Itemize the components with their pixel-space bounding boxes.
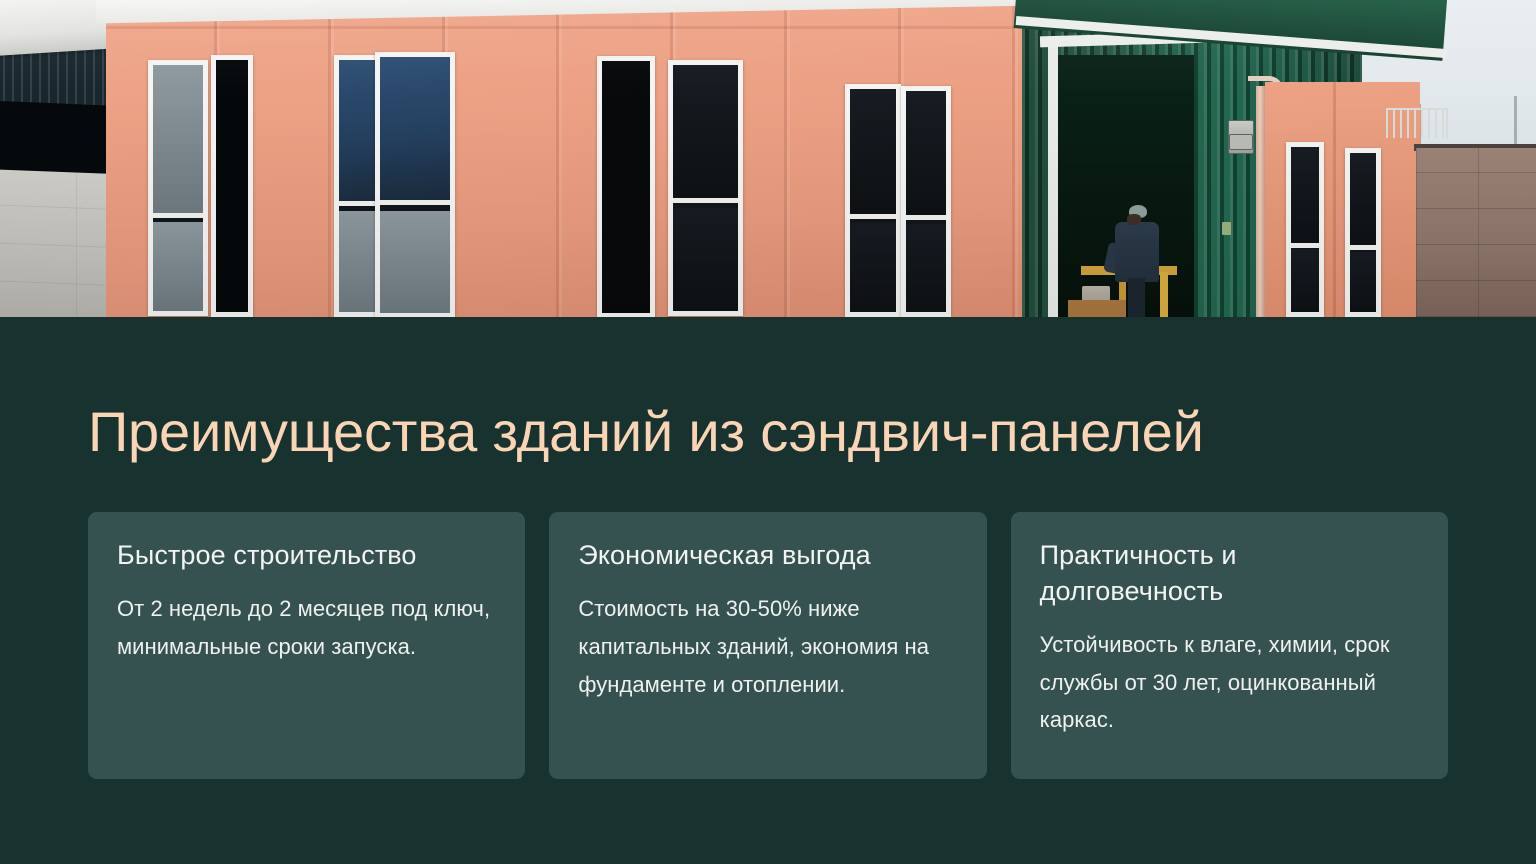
window-right-2	[1345, 148, 1381, 317]
window-mullion	[850, 214, 896, 219]
workbench-leg	[1160, 272, 1168, 317]
page-title: Преимущества зданий из сэндвич-панелей	[88, 402, 1458, 462]
benefit-cards: Быстрое строительство От 2 недель до 2 м…	[88, 512, 1448, 779]
worker-leg	[1128, 278, 1145, 317]
brick-wall	[1416, 148, 1536, 317]
wall-vent	[1222, 222, 1231, 235]
window-pane	[1350, 153, 1376, 245]
benefit-card-1-body: От 2 недель до 2 месяцев под ключ, миним…	[117, 590, 496, 666]
window-pane	[673, 65, 738, 198]
window-pane	[906, 224, 946, 312]
downspout-left	[1256, 86, 1265, 317]
benefit-card-1: Быстрое строительство От 2 недель до 2 м…	[88, 512, 525, 779]
window-mullion	[906, 215, 946, 220]
window-pane	[153, 222, 203, 311]
window-pane	[153, 65, 203, 213]
window-middle-2	[845, 84, 901, 317]
window-mullion	[673, 198, 738, 203]
door-opening-middle	[597, 56, 655, 317]
window-middle-1	[668, 60, 743, 316]
slide-root: Преимущества зданий из сэндвич-панелей Б…	[0, 0, 1536, 864]
benefit-card-1-title: Быстрое строительство	[117, 538, 496, 574]
window-pane	[1291, 147, 1319, 243]
benefit-card-3: Практичность и долговечность Устойчивост…	[1011, 512, 1448, 779]
window-middle-3	[901, 86, 951, 317]
window-left-1	[148, 60, 208, 316]
electrical-box-lower	[1229, 134, 1253, 150]
window-mullion	[1291, 243, 1319, 248]
worker-face	[1127, 214, 1141, 225]
window-mullion	[153, 213, 203, 218]
window-mullion	[1350, 245, 1376, 250]
window-pane	[673, 208, 738, 311]
window-pane	[850, 223, 896, 312]
window-pane	[380, 211, 450, 313]
window-left-2	[211, 55, 253, 317]
utility-pole	[1514, 96, 1517, 148]
window-pane	[380, 57, 450, 200]
content-section: Преимущества зданий из сэндвич-панелей Б…	[0, 317, 1536, 864]
window-right-1	[1286, 142, 1324, 317]
worker-body	[1115, 222, 1159, 282]
benefit-card-3-title: Практичность и долговечность	[1040, 538, 1419, 610]
window-left-4	[375, 52, 455, 317]
benefit-card-2-body: Стоимость на 30-50% ниже капитальных зда…	[578, 590, 957, 703]
window-pane	[850, 89, 896, 214]
board-pile	[1068, 300, 1126, 317]
garage-jamb	[1048, 38, 1058, 317]
benefit-card-2: Экономическая выгода Стоимость на 30-50%…	[549, 512, 986, 779]
benefit-card-3-body: Устойчивость к влаге, химии, срок службы…	[1040, 626, 1419, 739]
benefit-card-2-title: Экономическая выгода	[578, 538, 957, 574]
window-pane	[1350, 252, 1376, 312]
hero-photo	[0, 0, 1536, 317]
window-pane	[906, 91, 946, 215]
panel-seam-right	[1333, 82, 1336, 317]
window-pane	[1291, 249, 1319, 312]
roof-railing	[1386, 108, 1448, 138]
window-mullion	[380, 200, 450, 205]
panel-horizontal-join	[106, 26, 1066, 29]
